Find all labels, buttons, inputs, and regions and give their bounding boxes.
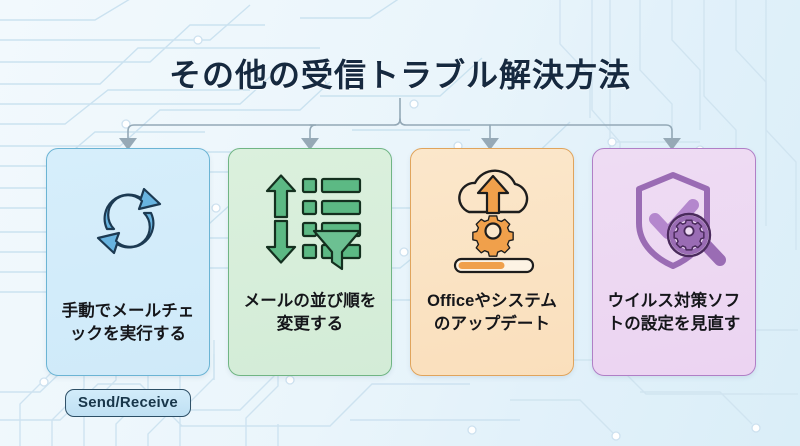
cloud-update-gear-icon: [411, 161, 575, 281]
send-receive-badge[interactable]: Send/Receive: [65, 389, 191, 417]
card-label-line1: 手動でメールチェ: [62, 302, 195, 320]
upload-arrow: [478, 176, 508, 213]
card-label-change-mail-sort-order: メールの並び順を 変更する: [237, 290, 383, 337]
card-manual-mail-check[interactable]: Send/Receive 手動でメールチェ ックを実行する: [46, 148, 210, 376]
sort-filter-icon: [229, 161, 393, 281]
shield-check-search-icon: [593, 161, 757, 281]
card-office-system-update[interactable]: Officeやシステム のアップデート: [410, 148, 574, 376]
card-antivirus-settings-review[interactable]: ウイルス対策ソフ トの設定を見直す: [592, 148, 756, 376]
card-label-line1: メールの並び順を: [244, 292, 377, 310]
sync-refresh-icon: [47, 161, 211, 281]
send-receive-badge-label: Send/Receive: [65, 389, 191, 417]
diagram-canvas: その他の受信トラブル解決方法: [0, 0, 800, 446]
card-change-mail-sort-order[interactable]: メールの並び順を 変更する: [228, 148, 392, 376]
card-label-line1: ウイルス対策ソフ: [608, 292, 741, 310]
card-label-line2: ックを実行する: [70, 325, 186, 343]
page-title: その他の受信トラブル解決方法: [0, 50, 800, 96]
connector-arrowheads: [119, 138, 681, 150]
card-label-line2: のアップデート: [434, 315, 550, 333]
card-label-manual-mail-check: 手動でメールチェ ックを実行する: [55, 300, 201, 347]
gear-in-lens: [674, 220, 704, 250]
card-label-line1: Officeやシステム: [427, 292, 557, 310]
card-label-line2: トの設定を見直す: [608, 315, 741, 333]
card-label-line2: 変更する: [277, 315, 343, 333]
progress-bar: [455, 259, 533, 272]
card-label-office-system-update: Officeやシステム のアップデート: [419, 290, 565, 337]
gear-shape: [473, 216, 513, 256]
card-label-antivirus-settings-review: ウイルス対策ソフ トの設定を見直す: [601, 290, 747, 337]
